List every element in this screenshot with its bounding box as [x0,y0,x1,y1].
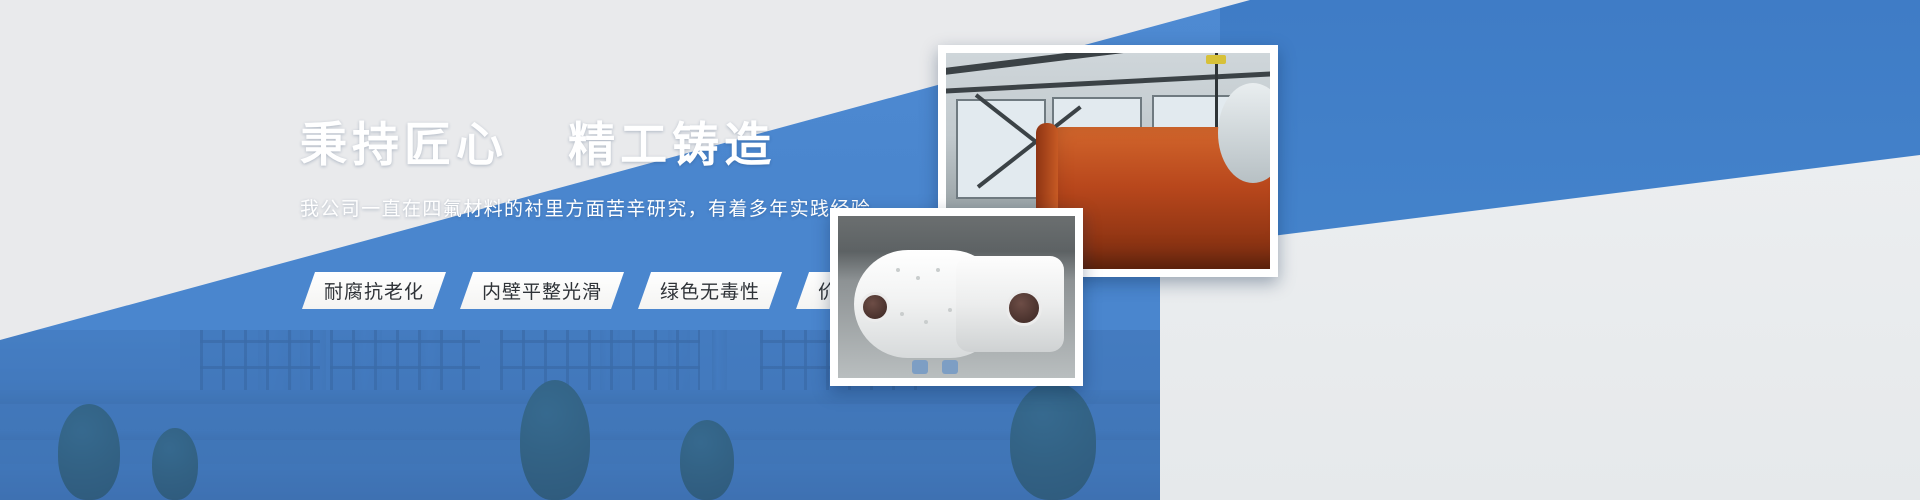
crane-beam [946,69,1270,94]
crane-hoist [1206,55,1226,64]
tank-valve [942,360,958,374]
tank-stud [924,320,928,324]
tank-stud [936,268,940,272]
tank-stud [896,268,900,272]
feature-pill[interactable]: 耐腐抗老化 [302,272,446,309]
headline-part-1: 秉持匠心 [300,118,508,171]
subtitle: 我公司一直在四氟材料的衬里方面苦辛研究，有着多年实践经验 [300,194,860,221]
copy-block: 秉持匠心 精工铸造 我公司一直在四氟材料的衬里方面苦辛研究，有着多年实践经验 [300,118,860,221]
feature-pill[interactable]: 绿色无毒性 [638,272,782,309]
tank-nozzle [1006,290,1042,326]
tank-stud [948,308,952,312]
tank-stud [916,276,920,280]
tank-stud [900,312,904,316]
tank-photo [838,216,1075,378]
hero-banner: 秉持匠心 精工铸造 我公司一直在四氟材料的衬里方面苦辛研究，有着多年实践经验 耐… [0,0,1920,500]
page-title: 秉持匠心 精工铸造 [300,118,860,172]
photo-frame [838,216,1075,378]
crane-hook-cable [1215,53,1218,127]
feature-pill-list: 耐腐抗老化 内壁平整光滑 绿色无毒性 价格低廉 [302,272,920,309]
feature-pill-label: 内壁平整光滑 [482,277,602,304]
photo-inset-tank[interactable] [830,208,1083,386]
tank-nozzle [860,292,890,322]
feature-pill-label: 耐腐抗老化 [324,277,424,304]
tank-valve [912,360,928,374]
feature-pill-label: 绿色无毒性 [660,277,760,304]
feature-pill[interactable]: 内壁平整光滑 [460,272,624,309]
headline-part-2: 精工铸造 [568,118,776,171]
